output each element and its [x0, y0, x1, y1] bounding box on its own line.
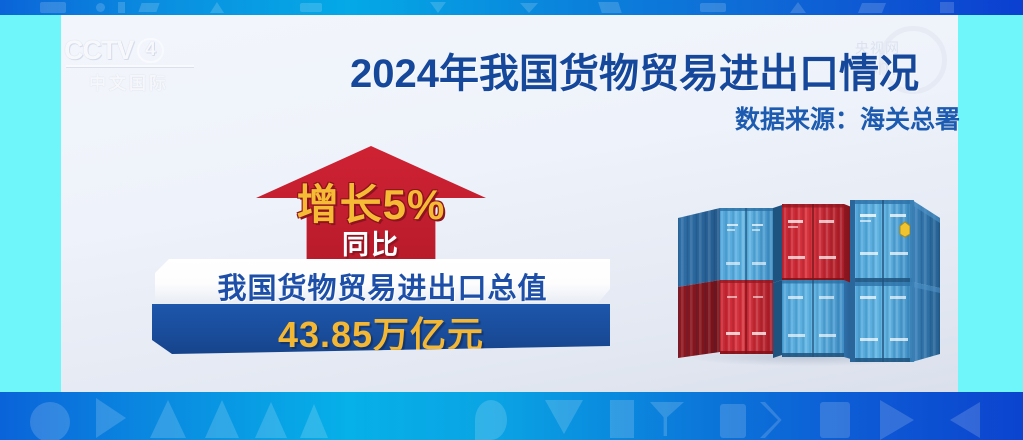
- data-source-note: 数据来源：海关总署: [610, 100, 960, 136]
- metric-value-banner: 43.85万亿元: [152, 304, 610, 354]
- year-on-year-label: 同比: [256, 229, 486, 261]
- page-title: 2024年我国货物贸易进出口情况: [350, 41, 919, 99]
- left-cyan-band: [0, 15, 61, 392]
- right-cyan-band: [958, 15, 1023, 392]
- bottom-band-pattern: [0, 392, 1023, 440]
- growth-arrow-callout: 增长5% 同比: [256, 146, 486, 276]
- bottom-decorative-band: [0, 392, 1023, 440]
- growth-percentage-label: 增长5%: [256, 182, 486, 228]
- top-decorative-band: [0, 0, 1023, 15]
- metric-caption-banner: 我国货物贸易进出口总值: [155, 259, 610, 303]
- top-band-pattern: [0, 0, 1023, 15]
- growth-arrow-text: 增长5% 同比: [256, 182, 486, 261]
- shipping-containers-icon: [672, 192, 942, 368]
- broadcast-graphic-screen: CCTV 4 中文国际 央视网 com 2024年我国货物贸易进出口情况 数据来…: [0, 0, 1023, 440]
- metric-caption-label: 我国货物贸易进出口总值: [155, 265, 610, 307]
